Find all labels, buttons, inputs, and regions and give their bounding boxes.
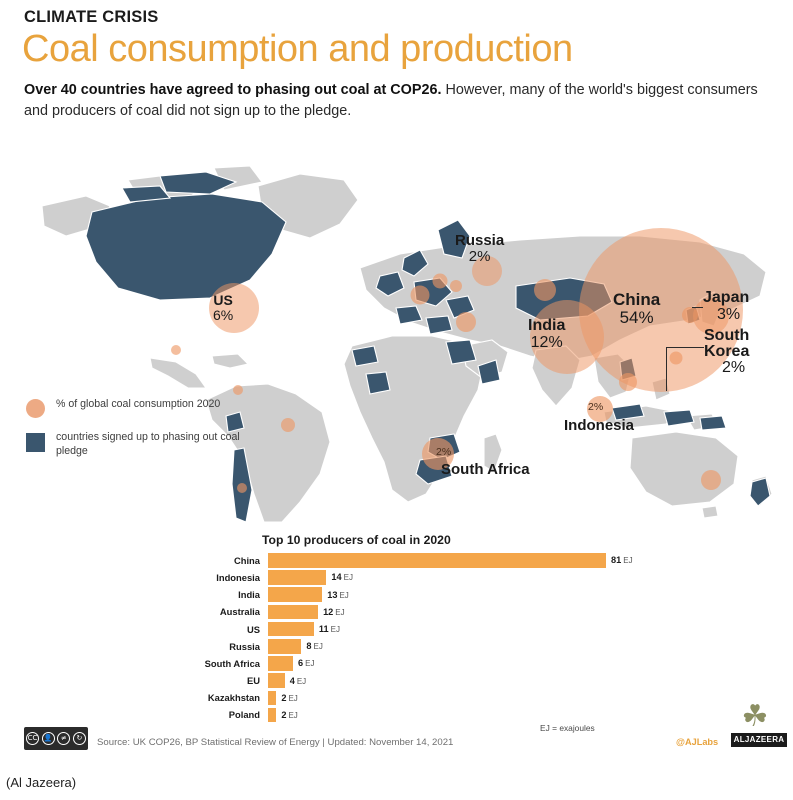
producers-bar-chart: Top 10 producers of coal in 2020 China81… [196,533,626,725]
bar-value-unit: EJ [314,642,323,651]
bar-fill [268,553,606,568]
bar-value-unit: EJ [305,659,314,668]
bar-value-label: 13EJ [327,590,349,600]
bar-track: 81EJ [268,553,633,568]
bar-track: 14EJ [268,570,626,585]
legend-pledge-label: countries signed up to phasing out coal … [56,431,241,459]
map-label-indonesia: Indonesia [564,418,634,434]
bar-value-unit: EJ [339,591,348,600]
chart-title: Top 10 producers of coal in 2020 [262,533,626,547]
bar-fill [268,656,293,671]
bar-value-label: 11EJ [319,624,340,634]
bar-row: India13EJ [196,587,626,602]
bar-value-label: 12EJ [323,607,345,617]
bar-category-label: EU [196,675,268,686]
bar-value-label: 8EJ [306,641,322,651]
bar-value-label: 81EJ [611,555,633,565]
bar-category-label: US [196,624,268,635]
leader-line-south-korea [666,347,667,391]
bar-category-label: Indonesia [196,572,268,583]
bar-value-unit: EJ [288,711,297,720]
bar-track: 8EJ [268,639,626,654]
leader-line-south-korea-h [666,347,704,348]
cc-nc-icon: ≠ [57,732,70,745]
bar-value-label: 6EJ [298,658,314,668]
bar-value-number: 4 [290,676,295,686]
creative-commons-badge: CC 👤 ≠ ↻ [24,727,88,750]
bar-value-unit: EJ [331,625,340,634]
aljazeera-mark-icon: ☘ [735,700,775,734]
bar-rows: China81EJIndonesia14EJIndia13EJAustralia… [196,553,626,722]
leader-line-japan [692,307,703,308]
bar-value-number: 11 [319,624,329,634]
bar-row: China81EJ [196,553,626,568]
map-label-indonesia-pct: 2% [588,402,603,413]
bar-track: 11EJ [268,622,626,637]
kicker: CLIMATE CRISIS [24,8,159,27]
map-label-russia: Russia 2% [455,233,504,265]
standfirst: Over 40 countries have agreed to phasing… [24,80,769,122]
bar-category-label: China [196,555,268,566]
legend-square-icon [26,431,45,452]
bar-fill [268,708,276,723]
bar-fill [268,691,276,706]
bar-value-label: 14EJ [331,572,353,582]
bar-row: Poland2EJ [196,708,626,723]
map-label-us: US 6% [213,293,233,322]
bar-value-label: 2EJ [281,693,297,703]
bar-value-number: 2 [281,693,286,703]
bar-value-number: 6 [298,658,303,668]
bar-fill [268,570,326,585]
legend-circle-icon [26,398,45,418]
bar-value-unit: EJ [335,608,344,617]
bar-category-label: India [196,589,268,600]
infographic-root: CLIMATE CRISIS Coal consumption and prod… [0,0,793,770]
ajlabs-handle[interactable]: @AJLabs [676,737,718,747]
map-label-india: India 12% [528,318,565,352]
image-caption: (Al Jazeera) [6,775,76,790]
source-credit: Source: UK COP26, BP Statistical Review … [97,737,453,748]
map-label-south-africa: South Africa [441,462,530,478]
bar-track: 4EJ [268,673,626,688]
bar-value-label: 2EJ [281,710,297,720]
bar-track: 13EJ [268,587,626,602]
cc-by-icon: 👤 [42,732,55,745]
bar-value-label: 4EJ [290,676,306,686]
page-title: Coal consumption and production [22,28,573,71]
map-label-south-korea: South Korea 2% [704,328,749,376]
bar-track: 2EJ [268,708,626,723]
bar-category-label: Poland [196,709,268,720]
aljazeera-logo: ALJAZEERA [731,733,787,747]
chart-unit-note: EJ = exajoules [540,723,595,733]
bar-fill [268,605,318,620]
bar-value-number: 13 [327,590,337,600]
bar-category-label: South Africa [196,658,268,669]
bar-value-number: 14 [331,572,341,582]
bar-row: Australia12EJ [196,605,626,620]
bar-fill [268,622,314,637]
bar-track: 12EJ [268,605,626,620]
bar-fill [268,673,285,688]
bar-row: South Africa6EJ [196,656,626,671]
bar-value-unit: EJ [297,677,306,686]
bar-value-unit: EJ [288,694,297,703]
bar-row: Russia8EJ [196,639,626,654]
bar-row: Kazakhstan2EJ [196,691,626,706]
bar-value-number: 12 [323,607,333,617]
map-legend: % of global coal consumption 2020 countr… [26,398,241,472]
bar-fill [268,639,301,654]
bar-row: US11EJ [196,622,626,637]
bar-value-unit: EJ [623,556,632,565]
bar-category-label: Kazakhstan [196,692,268,703]
bar-track: 2EJ [268,691,626,706]
bar-category-label: Russia [196,641,268,652]
bar-category-label: Australia [196,606,268,617]
map-label-china: China 54% [613,291,660,327]
bar-fill [268,587,322,602]
cc-sa-icon: ↻ [73,732,86,745]
bar-row: EU4EJ [196,673,626,688]
bar-value-number: 2 [281,710,286,720]
bar-value-number: 8 [306,641,311,651]
bar-value-unit: EJ [344,573,353,582]
legend-item-pledge: countries signed up to phasing out coal … [26,431,241,459]
bar-value-number: 81 [611,555,621,565]
legend-item-consumption: % of global coal consumption 2020 [26,398,241,418]
standfirst-lead: Over 40 countries have agreed to phasing… [24,82,441,98]
legend-consumption-label: % of global coal consumption 2020 [56,398,220,412]
map-label-south-africa-pct: 2% [436,447,451,458]
bar-track: 6EJ [268,656,626,671]
bar-row: Indonesia14EJ [196,570,626,585]
map-label-japan: Japan 3% [703,290,749,324]
cc-icon: CC [26,732,39,745]
